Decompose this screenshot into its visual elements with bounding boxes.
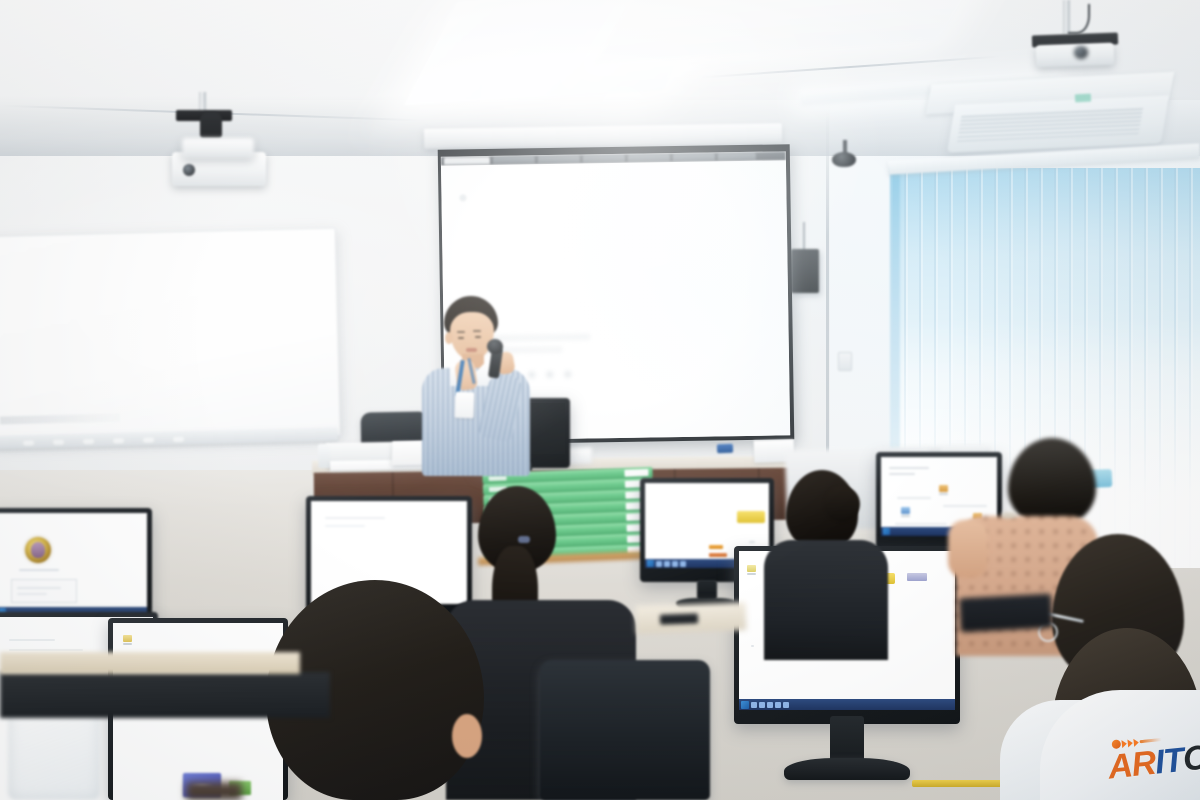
keyboard <box>660 613 698 624</box>
wall-outlet <box>838 352 852 371</box>
monitor-stand <box>830 716 864 764</box>
logo-text-c: C <box>1181 738 1200 778</box>
classroom-photo: ARITC <box>0 0 1200 800</box>
screen-tab <box>493 156 535 164</box>
desk-surface <box>0 652 300 674</box>
desk-front-edge <box>0 672 330 718</box>
id-badge-label <box>455 392 474 397</box>
whiteboard <box>0 228 340 444</box>
presenter-face <box>450 312 494 360</box>
chair-back <box>540 660 710 800</box>
logo-text-ar: AR <box>1106 744 1157 787</box>
logo-wordmark: ARITC <box>1106 740 1200 784</box>
aritc-logo: ARITC <box>1105 731 1200 794</box>
screen-tab <box>628 154 670 162</box>
foreground-object <box>186 782 242 800</box>
desk-bottle <box>318 444 331 468</box>
desk-clip <box>717 444 733 454</box>
screen-tab <box>673 153 715 161</box>
screen-tab <box>718 153 756 161</box>
logo-text-it: IT <box>1153 741 1185 782</box>
attendee-arm <box>948 520 988 578</box>
monitor-base <box>784 758 910 780</box>
wristwatch <box>1002 512 1016 518</box>
id-badge <box>455 392 475 419</box>
presenter <box>412 296 540 476</box>
monitor-stand <box>697 580 717 600</box>
keyboard <box>959 594 1053 633</box>
screen-tab <box>444 157 490 165</box>
attendee-ear <box>452 714 482 758</box>
screen-tab <box>583 155 625 163</box>
wall-speaker <box>791 249 819 293</box>
desk-edge-strip <box>912 780 1002 787</box>
screen-tab <box>538 156 580 164</box>
speaker-cable <box>803 222 805 252</box>
